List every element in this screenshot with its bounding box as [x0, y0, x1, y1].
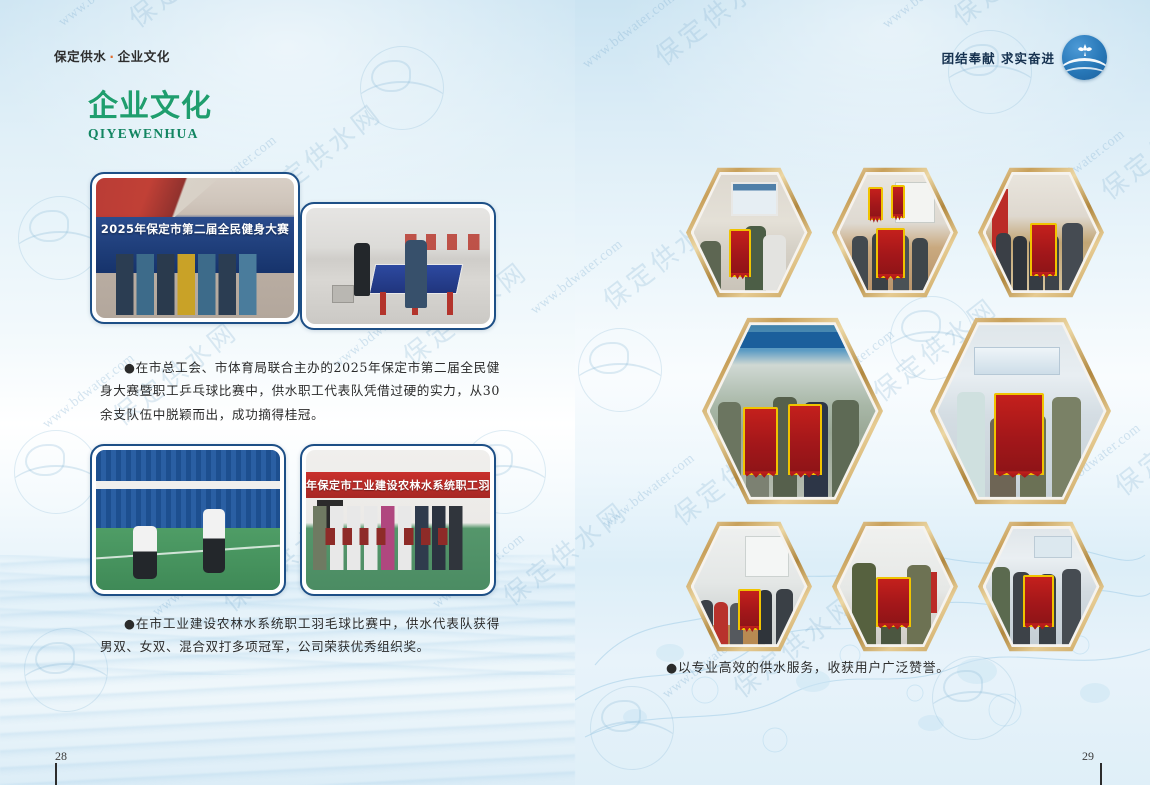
hex-photo-resident-banner-company-entrance: [930, 314, 1111, 508]
breadcrumb: 保定供水·企业文化: [54, 46, 170, 65]
hex-person: [763, 235, 786, 293]
water-drop-wave-logo-icon: [1062, 35, 1107, 80]
photo-ping-pong-team-award: 2025年保定市第二届全民健身大赛: [90, 172, 300, 324]
watermark-seal: [14, 430, 98, 514]
hex-photo-banner-presentation-office-window: [686, 165, 812, 300]
page-number-right: 29: [1082, 749, 1094, 764]
photo-ceremony-banner-text: 年保定市工业建设农林水系统职工羽: [306, 472, 490, 497]
hex-company-plaque: [974, 347, 1060, 376]
hex-person: [700, 241, 721, 293]
photo-team-row: [116, 254, 274, 316]
photo-badminton-court: [96, 528, 280, 590]
page-number-rule-right: [1100, 763, 1102, 785]
hex-red-pennant-center: [876, 228, 905, 278]
hex-person: [776, 589, 793, 647]
magazine-spread: www.bdwater.com www.bdwater.com www.bdwa…: [0, 0, 1150, 785]
hex-red-pennant: [868, 187, 882, 221]
hex-red-pennant: [1023, 575, 1054, 628]
hex-person: [996, 233, 1011, 292]
section-title-cn: 企业文化: [88, 92, 212, 122]
hex-red-pennant: [729, 229, 751, 277]
photo-ping-pong-match-action: [300, 202, 496, 330]
hex-person: [852, 563, 875, 646]
hex-red-pennant: [876, 577, 910, 627]
photo-badminton-match-action: [90, 444, 286, 596]
photo-gym-curtain: [96, 450, 280, 528]
hex-red-pennant: [743, 407, 778, 475]
photo-ceremony-banner: 年保定市工业建设农林水系统职工羽: [306, 472, 490, 497]
hex-photo-group-two-banners-office: [832, 165, 958, 300]
hex-red-pennant: [788, 404, 823, 476]
breadcrumb-section: 企业文化: [118, 49, 170, 64]
hex-person: [718, 402, 742, 501]
hex-person: [1013, 236, 1027, 292]
hex-notice-board: [745, 536, 789, 577]
caption-ping-pong: ●在市总工会、市体育局联合主办的2025年保定市第二届全民健身大赛暨职工乒乓球比…: [100, 356, 500, 426]
breadcrumb-company: 保定供水: [54, 49, 106, 64]
photo-player-background: [203, 509, 225, 573]
hex-entrance-sign: [1034, 536, 1072, 558]
hex-person: [1062, 223, 1082, 292]
hex-red-pennant: [891, 185, 905, 219]
hex-red-pennant: [1030, 223, 1057, 276]
hex-building-sign: [733, 332, 853, 348]
hex-person: [832, 400, 859, 501]
photo-player-left: [354, 243, 371, 296]
watermark-seal: [578, 328, 662, 412]
page-number-left: 28: [55, 749, 67, 764]
photo-gym-beam: [96, 481, 280, 489]
breadcrumb-separator: ·: [106, 50, 117, 64]
watermark-seal: [948, 30, 1032, 114]
hex-red-pennant: [994, 393, 1044, 475]
hex-person: [957, 392, 986, 501]
photo-player-foreground: [133, 526, 157, 579]
photo-certificates-row: [321, 528, 476, 545]
hex-person: [852, 236, 868, 292]
section-title-en: QIYEWENHUA: [88, 126, 212, 142]
hex-red-pennant: [738, 589, 761, 630]
hex-window: [731, 182, 778, 216]
hex-person: [992, 567, 1010, 646]
photo-banner-text: 2025年保定市第二届全民健身大赛: [96, 221, 294, 237]
watermark-seal: [24, 628, 108, 712]
hex-photo-group-banner-indoor-red-wall: [978, 165, 1104, 300]
hex-photo-family-banner-service-counter: [832, 519, 958, 654]
hex-photo-group-banner-office-entrance: [978, 519, 1104, 654]
hex-photo-staff-two-banners-outside-building: [702, 314, 883, 508]
hex-person: [699, 600, 713, 646]
hex-person: [1052, 397, 1081, 501]
hex-photo-elderly-residents-banner-service-hall: [686, 519, 812, 654]
company-slogan: 团结奉献 求实奋进: [942, 48, 1055, 67]
caption-service-praise: ●以专业高效的供水服务，收获用户广泛赞誉。: [666, 657, 1086, 681]
page-number-rule-left: [55, 763, 57, 785]
hex-person: [912, 238, 928, 293]
watermark-seal: [590, 686, 674, 770]
section-title: 企业文化 QIYEWENHUA: [88, 92, 212, 142]
logo-emblem-icon: [1074, 43, 1096, 59]
caption-badminton: ●在市工业建设农林水系统职工羽毛球比赛中，供水代表队获得男双、女双、混合双打多项…: [100, 612, 500, 659]
logo-wave-lower: [1062, 67, 1107, 80]
photo-badminton-award-ceremony: 年保定市工业建设农林水系统职工羽: [300, 444, 496, 596]
photo-player-right: [405, 240, 427, 307]
hex-person: [1062, 569, 1081, 647]
hex-person: [714, 602, 728, 647]
photo-backdrop-stripe: [96, 178, 294, 220]
photo-stool: [332, 285, 354, 304]
